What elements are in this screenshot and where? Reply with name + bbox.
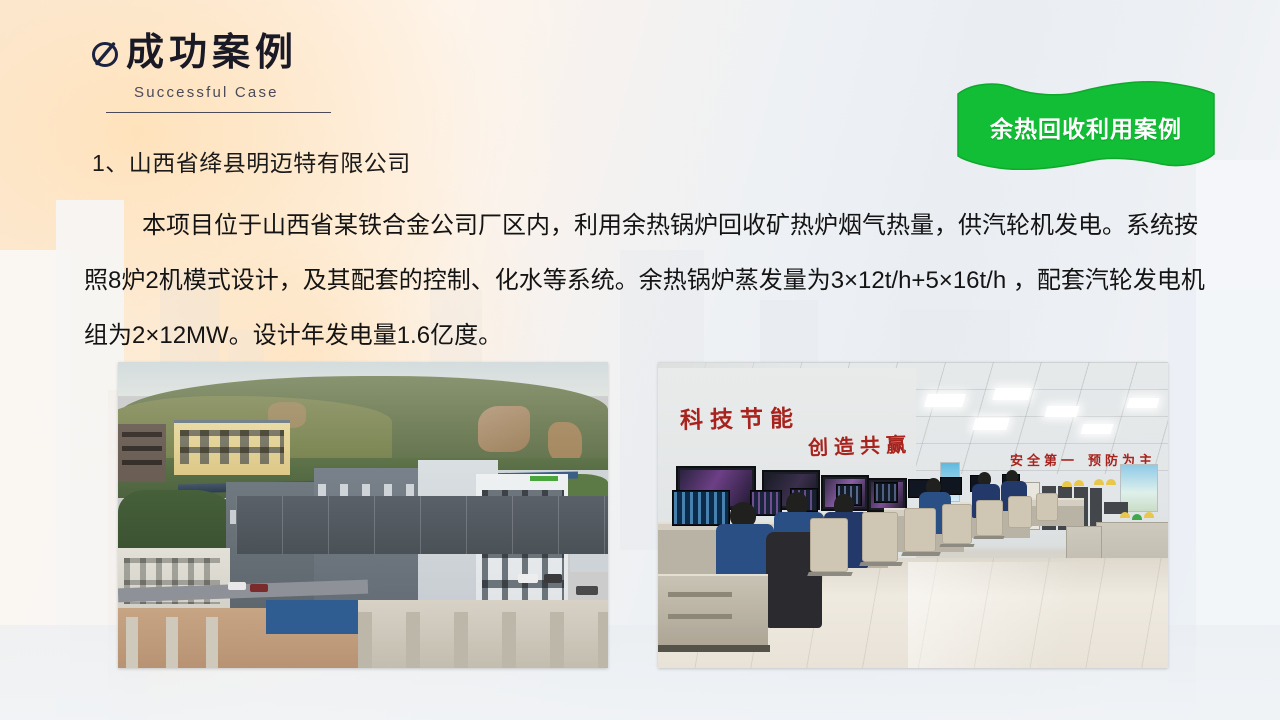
- desk-handle-2: [668, 614, 732, 619]
- safety-helmet-2: [1074, 480, 1084, 486]
- office-chair-2-base: [859, 562, 903, 566]
- section-heading: 1、山西省绛县明迈特有限公司: [92, 144, 411, 178]
- wall-slogan-a: 科技节能: [680, 399, 801, 435]
- ceiling-lamp-3: [992, 388, 1031, 400]
- wall-slogan-b: 创造共赢: [808, 428, 913, 461]
- office-chair-1: [810, 518, 848, 572]
- page-title: 成功案例: [126, 34, 298, 72]
- office-chair-7: [1036, 493, 1058, 521]
- office-chair-4: [942, 504, 972, 544]
- slide-header: 成功案例 Successful Case: [88, 34, 331, 113]
- ceiling-lamp-6: [1081, 424, 1114, 434]
- page-title-row: 成功案例: [88, 34, 331, 72]
- slide-canvas: 成功案例 Successful Case 余热回收利用案例 1、山西省绛县明迈特…: [0, 0, 1280, 720]
- status-badge: 余热回收利用案例: [955, 80, 1217, 170]
- room-floor-reflection: [908, 562, 1168, 668]
- photo-plant: [118, 362, 608, 668]
- office-chair-2: [862, 512, 898, 562]
- plant-haze-overlay: [118, 362, 608, 668]
- desk-handle-1: [668, 592, 732, 597]
- photo-control-room: 科技节能 创造共赢 安全第一 预防为主: [658, 362, 1168, 668]
- safety-helmet-4: [1106, 479, 1116, 485]
- office-chair-3-base: [901, 552, 941, 556]
- safety-helmet-3: [1094, 479, 1104, 485]
- ceiling-lamp-2: [924, 394, 966, 407]
- workstation-monitor-5: [874, 482, 898, 503]
- ribbon-shape-icon: [955, 80, 1217, 170]
- office-chair-3: [904, 508, 936, 552]
- safety-helmet-5: [1120, 512, 1130, 518]
- console-desk-front: [658, 574, 768, 650]
- wall-slogan-c: 安全第一: [1010, 450, 1078, 469]
- safety-helmet-1: [1062, 481, 1072, 487]
- office-chair-1-base: [807, 572, 853, 576]
- ceiling-lamp-5: [1044, 406, 1079, 417]
- office-chair-5: [976, 500, 1003, 536]
- office-chair-6: [1008, 496, 1032, 528]
- ceiling-lamp-7: [1127, 398, 1160, 408]
- title-divider: [106, 112, 331, 113]
- office-chair-5-base: [973, 536, 1004, 539]
- page-subtitle: Successful Case: [134, 84, 331, 101]
- office-chair-4-base: [939, 544, 974, 547]
- desk-kickplate: [658, 645, 770, 652]
- circle-slash-icon: [88, 36, 122, 70]
- body-paragraph: 本项目位于山西省某铁合金公司厂区内，利用余热锅炉回收矿热炉烟气热量，供汽轮机发电…: [84, 198, 1214, 363]
- paragraph-text: 本项目位于山西省某铁合金公司厂区内，利用余热锅炉回收矿热炉烟气热量，供汽轮机发电…: [84, 212, 1205, 349]
- ceiling-lamp-4: [972, 418, 1009, 430]
- safety-helmet-6: [1132, 514, 1142, 520]
- workstation-monitor-1: [672, 490, 730, 526]
- safety-helmet-7: [1144, 512, 1154, 518]
